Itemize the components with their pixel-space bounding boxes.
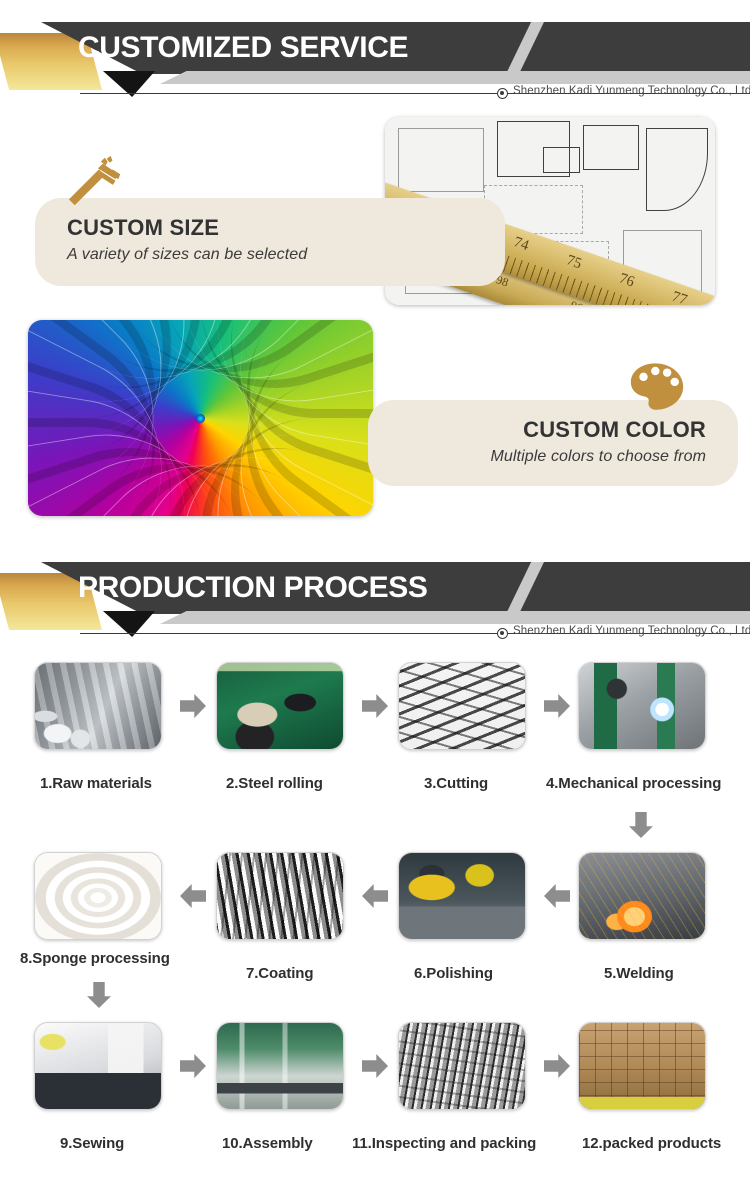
process-step-image	[216, 1022, 344, 1110]
process-step-image	[34, 662, 162, 750]
bullet-dot-icon	[497, 628, 508, 639]
process-step: 5.Welding	[578, 852, 706, 940]
arrow-right-icon	[180, 693, 206, 719]
custom-color-subtext: Multiple colors to choose from	[490, 444, 706, 470]
process-step: 6.Polishing	[398, 852, 526, 940]
process-step-label: 12.packed products	[582, 1135, 721, 1152]
section-title: PRODUCTION PROCESS	[78, 566, 428, 610]
process-step: 10.Assembly	[216, 1022, 344, 1110]
arrow-down-icon	[628, 812, 654, 838]
arrow-right-icon	[544, 693, 570, 719]
palette-icon	[630, 362, 684, 412]
custom-size-heading: CUSTOM SIZE	[67, 214, 307, 242]
process-step: 8.Sponge processing	[34, 852, 162, 940]
process-step-label: 1.Raw materials	[40, 775, 152, 792]
process-step: 2.Steel rolling	[216, 662, 344, 750]
process-step-label: 6.Polishing	[414, 965, 493, 982]
process-step-label: 7.Coating	[246, 965, 313, 982]
custom-size-subtext: A variety of sizes can be selected	[67, 242, 307, 268]
process-step-label: 11.Inspecting and packing	[352, 1135, 536, 1152]
process-step-image	[398, 662, 526, 750]
process-step-label: 5.Welding	[604, 965, 674, 982]
arrow-left-icon	[544, 883, 570, 909]
process-step-image	[34, 1022, 162, 1110]
process-step-image	[578, 662, 706, 750]
process-step-image	[578, 1022, 706, 1110]
process-step: 4.Mechanical processing	[578, 662, 706, 750]
arrow-left-icon	[180, 883, 206, 909]
arrow-down-icon	[86, 982, 112, 1008]
process-step-image	[398, 1022, 526, 1110]
process-step-image	[578, 852, 706, 940]
process-step-image	[398, 852, 526, 940]
production-process-banner: PRODUCTION PROCESS Shenzhen Kadi Yunmeng…	[0, 540, 750, 640]
caliper-icon	[66, 150, 128, 212]
process-step-label: 10.Assembly	[222, 1135, 313, 1152]
arrow-right-icon	[180, 1053, 206, 1079]
arrow-right-icon	[362, 693, 388, 719]
custom-color-image	[28, 320, 373, 516]
process-step-image	[216, 662, 344, 750]
custom-color-card: CUSTOM COLOR Multiple colors to choose f…	[368, 400, 738, 486]
process-step-image	[34, 852, 162, 940]
process-step: 11.Inspecting and packing	[398, 1022, 526, 1110]
process-step: 9.Sewing	[34, 1022, 162, 1110]
process-step-image	[216, 852, 344, 940]
process-step-label: 3.Cutting	[424, 775, 488, 792]
company-name: Shenzhen Kadi Yunmeng Technology Co., Lt…	[513, 625, 750, 637]
process-step-label: 4.Mechanical processing	[546, 775, 721, 792]
customized-service-content: 88289896 7172737475767778 CUSTOM SIZE A …	[0, 0, 750, 455]
process-step-label: 9.Sewing	[60, 1135, 124, 1152]
banner-gray-bar	[160, 611, 750, 624]
custom-color-heading: CUSTOM COLOR	[490, 416, 706, 444]
process-step: 3.Cutting	[398, 662, 526, 750]
arrow-right-icon	[362, 1053, 388, 1079]
arrow-left-icon	[362, 883, 388, 909]
arrow-right-icon	[544, 1053, 570, 1079]
process-step-label: 8.Sponge processing	[20, 950, 170, 967]
process-step: 1.Raw materials	[34, 662, 162, 750]
process-step: 7.Coating	[216, 852, 344, 940]
process-step: 12.packed products	[578, 1022, 706, 1110]
process-step-label: 2.Steel rolling	[226, 775, 323, 792]
